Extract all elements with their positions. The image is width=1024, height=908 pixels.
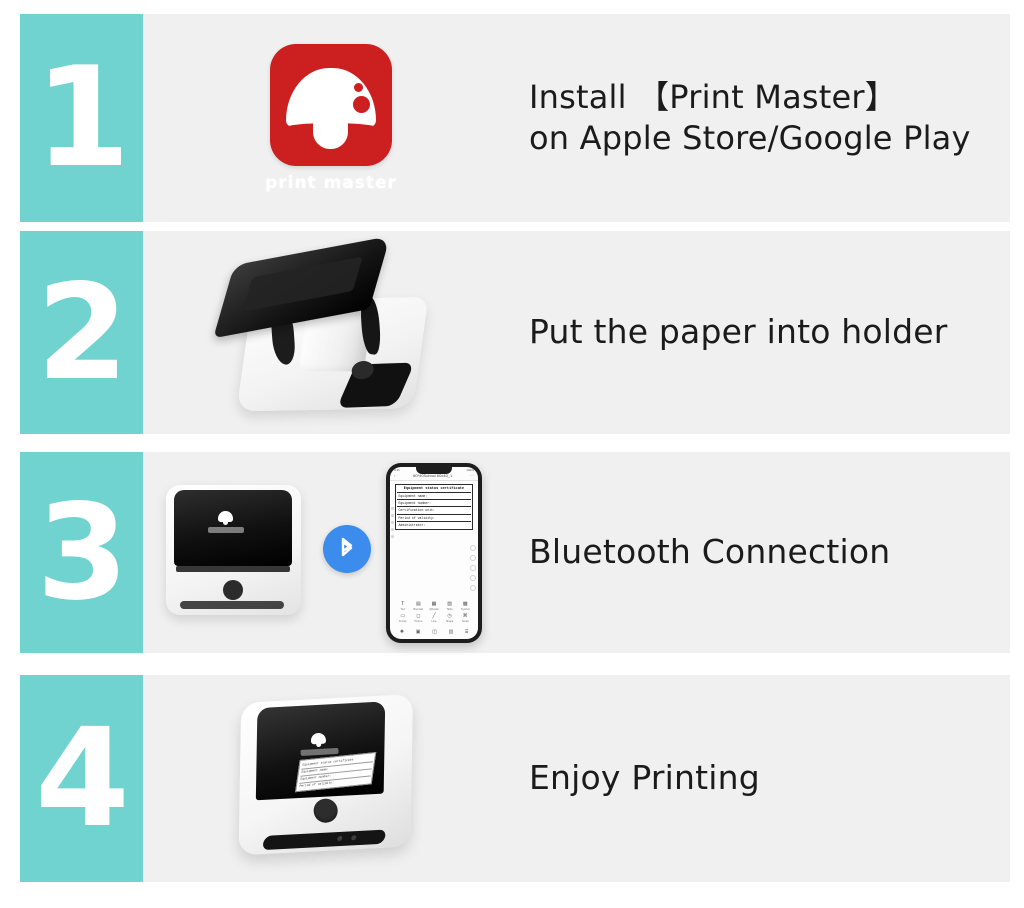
- printer-lid-inner: [242, 256, 362, 311]
- more-icon[interactable]: ⋯: [470, 473, 474, 478]
- tool-button[interactable]: ▤ Barcode: [411, 602, 427, 611]
- table-tool-icon: ▧: [447, 602, 452, 607]
- tool-button[interactable]: ╱ Line: [426, 614, 442, 623]
- canvas-tools-right[interactable]: [470, 545, 476, 591]
- steps-list: 1 print master Install 【Print Master】 on…: [20, 14, 1010, 882]
- line-tool-icon: ╱: [432, 614, 435, 619]
- tool-label: Table: [446, 608, 452, 611]
- text-tool-icon: T: [401, 602, 404, 607]
- step-row: 3: [20, 452, 1010, 653]
- phone-tool-grid[interactable]: T Text ▤ Barcode ▦ QRcode: [390, 602, 478, 623]
- tool-label: Picture: [414, 620, 422, 623]
- phone-notch: [416, 467, 452, 474]
- tool-button[interactable]: ◻ Picture: [411, 614, 427, 623]
- phone-document-title: 60*40School 60x40_1: [413, 473, 452, 478]
- step-number: 1: [34, 49, 128, 187]
- bluetooth-icon: [323, 525, 371, 573]
- label-field-row: Administrator:: [397, 522, 471, 528]
- printer-power-button: [223, 580, 243, 600]
- step-visual-open-printer: [143, 231, 513, 434]
- tool-button[interactable]: T Text: [395, 602, 411, 611]
- printer-open-photo: [208, 234, 460, 430]
- tool-label: Shape: [446, 620, 454, 623]
- bluetooth-scene: 9:41 100% ‹ 60*40School 60x40_1 ⋯ Equipm…: [158, 463, 498, 643]
- tool-button[interactable]: ▭ Frame: [395, 614, 411, 623]
- step-caption-area: Bluetooth Connection: [513, 452, 1010, 653]
- phone-screen: 9:41 100% ‹ 60*40School 60x40_1 ⋯ Equipm…: [390, 467, 478, 639]
- app-icon-label: print master: [265, 173, 397, 193]
- mushroom-stem-icon: [313, 116, 348, 149]
- printer-printing-photo: Equipment status certificate Equipment n…: [213, 680, 462, 877]
- printer-brand-text: [208, 527, 244, 533]
- qrcode-tool-icon: ▦: [432, 602, 437, 607]
- settings-icon[interactable]: ✹: [400, 629, 404, 635]
- step-row: 4 Equipment status certificate Equipment…: [20, 675, 1010, 882]
- printer-indicator-dot: [337, 836, 343, 841]
- step-row: 1 print master Install 【Print Master】 on…: [20, 14, 1010, 222]
- step-number: 3: [37, 487, 127, 619]
- shape-tool-icon: ◷: [447, 614, 451, 619]
- step-number-block: 2: [20, 231, 143, 434]
- tool-button[interactable]: ⌘ Serial: [457, 614, 473, 623]
- step-caption: Bluetooth Connection: [529, 531, 890, 573]
- serial-tool-icon: ⌘: [463, 614, 468, 619]
- status-battery: 100%: [466, 468, 474, 472]
- printer-closed-photo: [166, 485, 301, 615]
- step-caption: Put the paper into holder: [529, 311, 948, 353]
- canvas-ruler-left: [391, 507, 394, 538]
- print-master-app-icon: [270, 44, 392, 166]
- tool-label: Text: [400, 608, 405, 611]
- print-icon[interactable]: ⌸: [465, 629, 468, 635]
- step-caption: Enjoy Printing: [529, 757, 760, 799]
- step-number: 4: [35, 711, 128, 847]
- printer-paper-slot: [176, 566, 290, 572]
- label-heading: Equipment status certificate: [397, 486, 471, 493]
- printer-front-bar: [180, 601, 284, 609]
- printer-indicator-dot: [351, 835, 357, 840]
- tool-label: Symbol: [461, 608, 470, 611]
- tool-button[interactable]: ▩ Symbol: [457, 602, 473, 611]
- label-field-row: Equipment name:: [397, 493, 471, 500]
- label-field-row: Certification unit:: [397, 507, 471, 514]
- tool-label: Frame: [399, 620, 407, 623]
- step-number-block: 4: [20, 675, 143, 882]
- picture-tool-icon: ◻: [416, 614, 420, 619]
- step-caption-area: Put the paper into holder: [513, 231, 1010, 434]
- mushroom-dot-small-icon: [354, 83, 363, 92]
- tool-button[interactable]: ▧ Table: [442, 602, 458, 611]
- step-number-block: 1: [20, 14, 143, 222]
- grid-icon[interactable]: ▥: [449, 629, 454, 635]
- barcode-tool-icon: ▤: [416, 602, 421, 607]
- step-number-block: 3: [20, 452, 143, 653]
- step-caption: Install 【Print Master】 on Apple Store/Go…: [529, 77, 971, 159]
- step-number: 2: [37, 267, 127, 399]
- phone-bottom-bar[interactable]: ✹ ▣ ◫ ▥ ⌸: [390, 629, 478, 635]
- step-row: 2 Put the paper into holder: [20, 231, 1010, 434]
- tool-label: Serial: [462, 620, 469, 623]
- tool-label: Line: [432, 620, 437, 623]
- layout-icon[interactable]: ▣: [416, 629, 421, 635]
- align-icon[interactable]: ◫: [432, 629, 437, 635]
- back-icon[interactable]: ‹: [394, 473, 395, 478]
- tool-button[interactable]: ▦ QRcode: [426, 602, 442, 611]
- instruction-steps-page: 1 print master Install 【Print Master】 on…: [0, 0, 1024, 908]
- mushroom-logo-icon: [311, 733, 327, 745]
- app-icon-wrap: print master: [265, 44, 397, 193]
- symbol-tool-icon: ▩: [463, 602, 468, 607]
- step-caption-area: Install 【Print Master】 on Apple Store/Go…: [513, 14, 1010, 222]
- label-preview[interactable]: Equipment status certificate Equipment n…: [395, 484, 473, 530]
- tool-button[interactable]: ◷ Shape: [442, 614, 458, 623]
- status-time: 9:41: [394, 468, 400, 472]
- tool-label: Barcode: [414, 608, 424, 611]
- smartphone-photo: 9:41 100% ‹ 60*40School 60x40_1 ⋯ Equipm…: [386, 463, 482, 643]
- step-visual-printing: Equipment status certificate Equipment n…: [143, 675, 513, 882]
- tool-label: QRcode: [429, 608, 439, 611]
- mushroom-dot-large-icon: [353, 96, 370, 113]
- label-field-row: Equipment number:: [397, 500, 471, 507]
- step-caption-area: Enjoy Printing: [513, 675, 1010, 882]
- step-visual-app-icon: print master: [143, 14, 513, 222]
- frame-tool-icon: ▭: [400, 614, 405, 619]
- step-visual-bluetooth-pairing: 9:41 100% ‹ 60*40School 60x40_1 ⋯ Equipm…: [143, 452, 513, 653]
- label-field-row: Period of validity:: [397, 515, 471, 522]
